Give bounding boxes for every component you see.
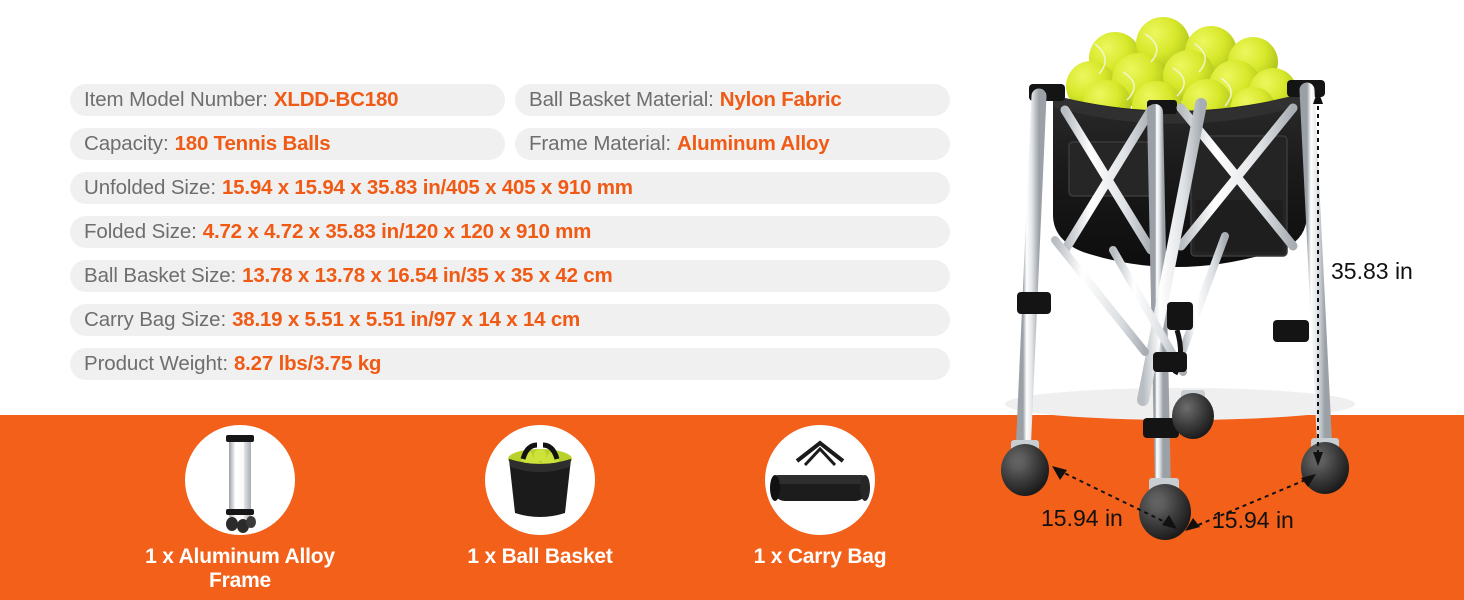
spec-label: Frame Material: xyxy=(529,132,671,156)
included-item: 1 x Ball Basket xyxy=(420,425,660,569)
spec-row: Product Weight: 8.27 lbs/3.75 kg xyxy=(70,348,960,380)
included-item: 1 x Carry Bag xyxy=(700,425,940,569)
spec-row: Carry Bag Size: 38.19 x 5.51 x 5.51 in/9… xyxy=(70,304,960,336)
included-items: 1 x Aluminum Alloy Frame 1 x Ball B xyxy=(0,425,990,600)
spec-list: Item Model Number: XLDD-BC180 Ball Baske… xyxy=(70,84,960,392)
ball-basket-icon xyxy=(485,425,595,535)
spec-row: Unfolded Size: 15.94 x 15.94 x 35.83 in/… xyxy=(70,172,960,204)
spec-unfolded-size: Unfolded Size: 15.94 x 15.94 x 35.83 in/… xyxy=(70,172,950,204)
spec-value: XLDD-BC180 xyxy=(274,88,398,112)
product-infographic: 35.83 in 15.94 in 15.94 in Item Model Nu… xyxy=(0,0,1464,600)
spec-carry-bag-size: Carry Bag Size: 38.19 x 5.51 x 5.51 in/9… xyxy=(70,304,950,336)
spec-value: 4.72 x 4.72 x 35.83 in/120 x 120 x 910 m… xyxy=(203,220,591,244)
height-dimension-label: 35.83 in xyxy=(1331,258,1413,285)
width-left-dimension-label: 15.94 in xyxy=(1041,505,1123,532)
spec-label: Product Weight: xyxy=(84,352,228,376)
spec-value: 38.19 x 5.51 x 5.51 in/97 x 14 x 14 cm xyxy=(232,308,580,332)
spec-label: Carry Bag Size: xyxy=(84,308,226,332)
spec-label: Unfolded Size: xyxy=(84,176,216,200)
spec-frame-material: Frame Material: Aluminum Alloy xyxy=(515,128,950,160)
included-item-caption: 1 x Ball Basket xyxy=(420,545,660,569)
spec-row: Folded Size: 4.72 x 4.72 x 35.83 in/120 … xyxy=(70,216,960,248)
spec-label: Item Model Number: xyxy=(84,88,268,112)
carry-bag-icon xyxy=(765,425,875,535)
spec-product-weight: Product Weight: 8.27 lbs/3.75 kg xyxy=(70,348,950,380)
included-item: 1 x Aluminum Alloy Frame xyxy=(120,425,360,593)
spec-ball-basket-size: Ball Basket Size: 13.78 x 13.78 x 16.54 … xyxy=(70,260,950,292)
basket-thumbnail-circle xyxy=(485,425,595,535)
carry-bag-thumbnail-circle xyxy=(765,425,875,535)
spec-value: 15.94 x 15.94 x 35.83 in/405 x 405 x 910… xyxy=(222,176,633,200)
included-item-caption: 1 x Aluminum Alloy Frame xyxy=(120,545,360,593)
spec-row: Ball Basket Size: 13.78 x 13.78 x 16.54 … xyxy=(70,260,960,292)
spec-row: Item Model Number: XLDD-BC180 Ball Baske… xyxy=(70,84,960,116)
folded-aluminum-frame-icon xyxy=(185,425,295,535)
included-item-caption: 1 x Carry Bag xyxy=(700,545,940,569)
spec-label: Ball Basket Material: xyxy=(529,88,714,112)
spec-label: Ball Basket Size: xyxy=(84,264,236,288)
spec-capacity: Capacity: 180 Tennis Balls xyxy=(70,128,505,160)
spec-value: 13.78 x 13.78 x 16.54 in/35 x 35 x 42 cm xyxy=(242,264,612,288)
spec-folded-size: Folded Size: 4.72 x 4.72 x 35.83 in/120 … xyxy=(70,216,950,248)
spec-item-model-number: Item Model Number: XLDD-BC180 xyxy=(70,84,505,116)
spec-value: Nylon Fabric xyxy=(720,88,842,112)
spec-ball-basket-material: Ball Basket Material: Nylon Fabric xyxy=(515,84,950,116)
spec-value: 180 Tennis Balls xyxy=(175,132,331,156)
spec-row: Capacity: 180 Tennis Balls Frame Materia… xyxy=(70,128,960,160)
spec-value: Aluminum Alloy xyxy=(677,132,829,156)
spec-label: Folded Size: xyxy=(84,220,197,244)
frame-thumbnail-circle xyxy=(185,425,295,535)
spec-value: 8.27 lbs/3.75 kg xyxy=(234,352,381,376)
width-right-dimension-label: 15.94 in xyxy=(1212,507,1294,534)
spec-label: Capacity: xyxy=(84,132,169,156)
